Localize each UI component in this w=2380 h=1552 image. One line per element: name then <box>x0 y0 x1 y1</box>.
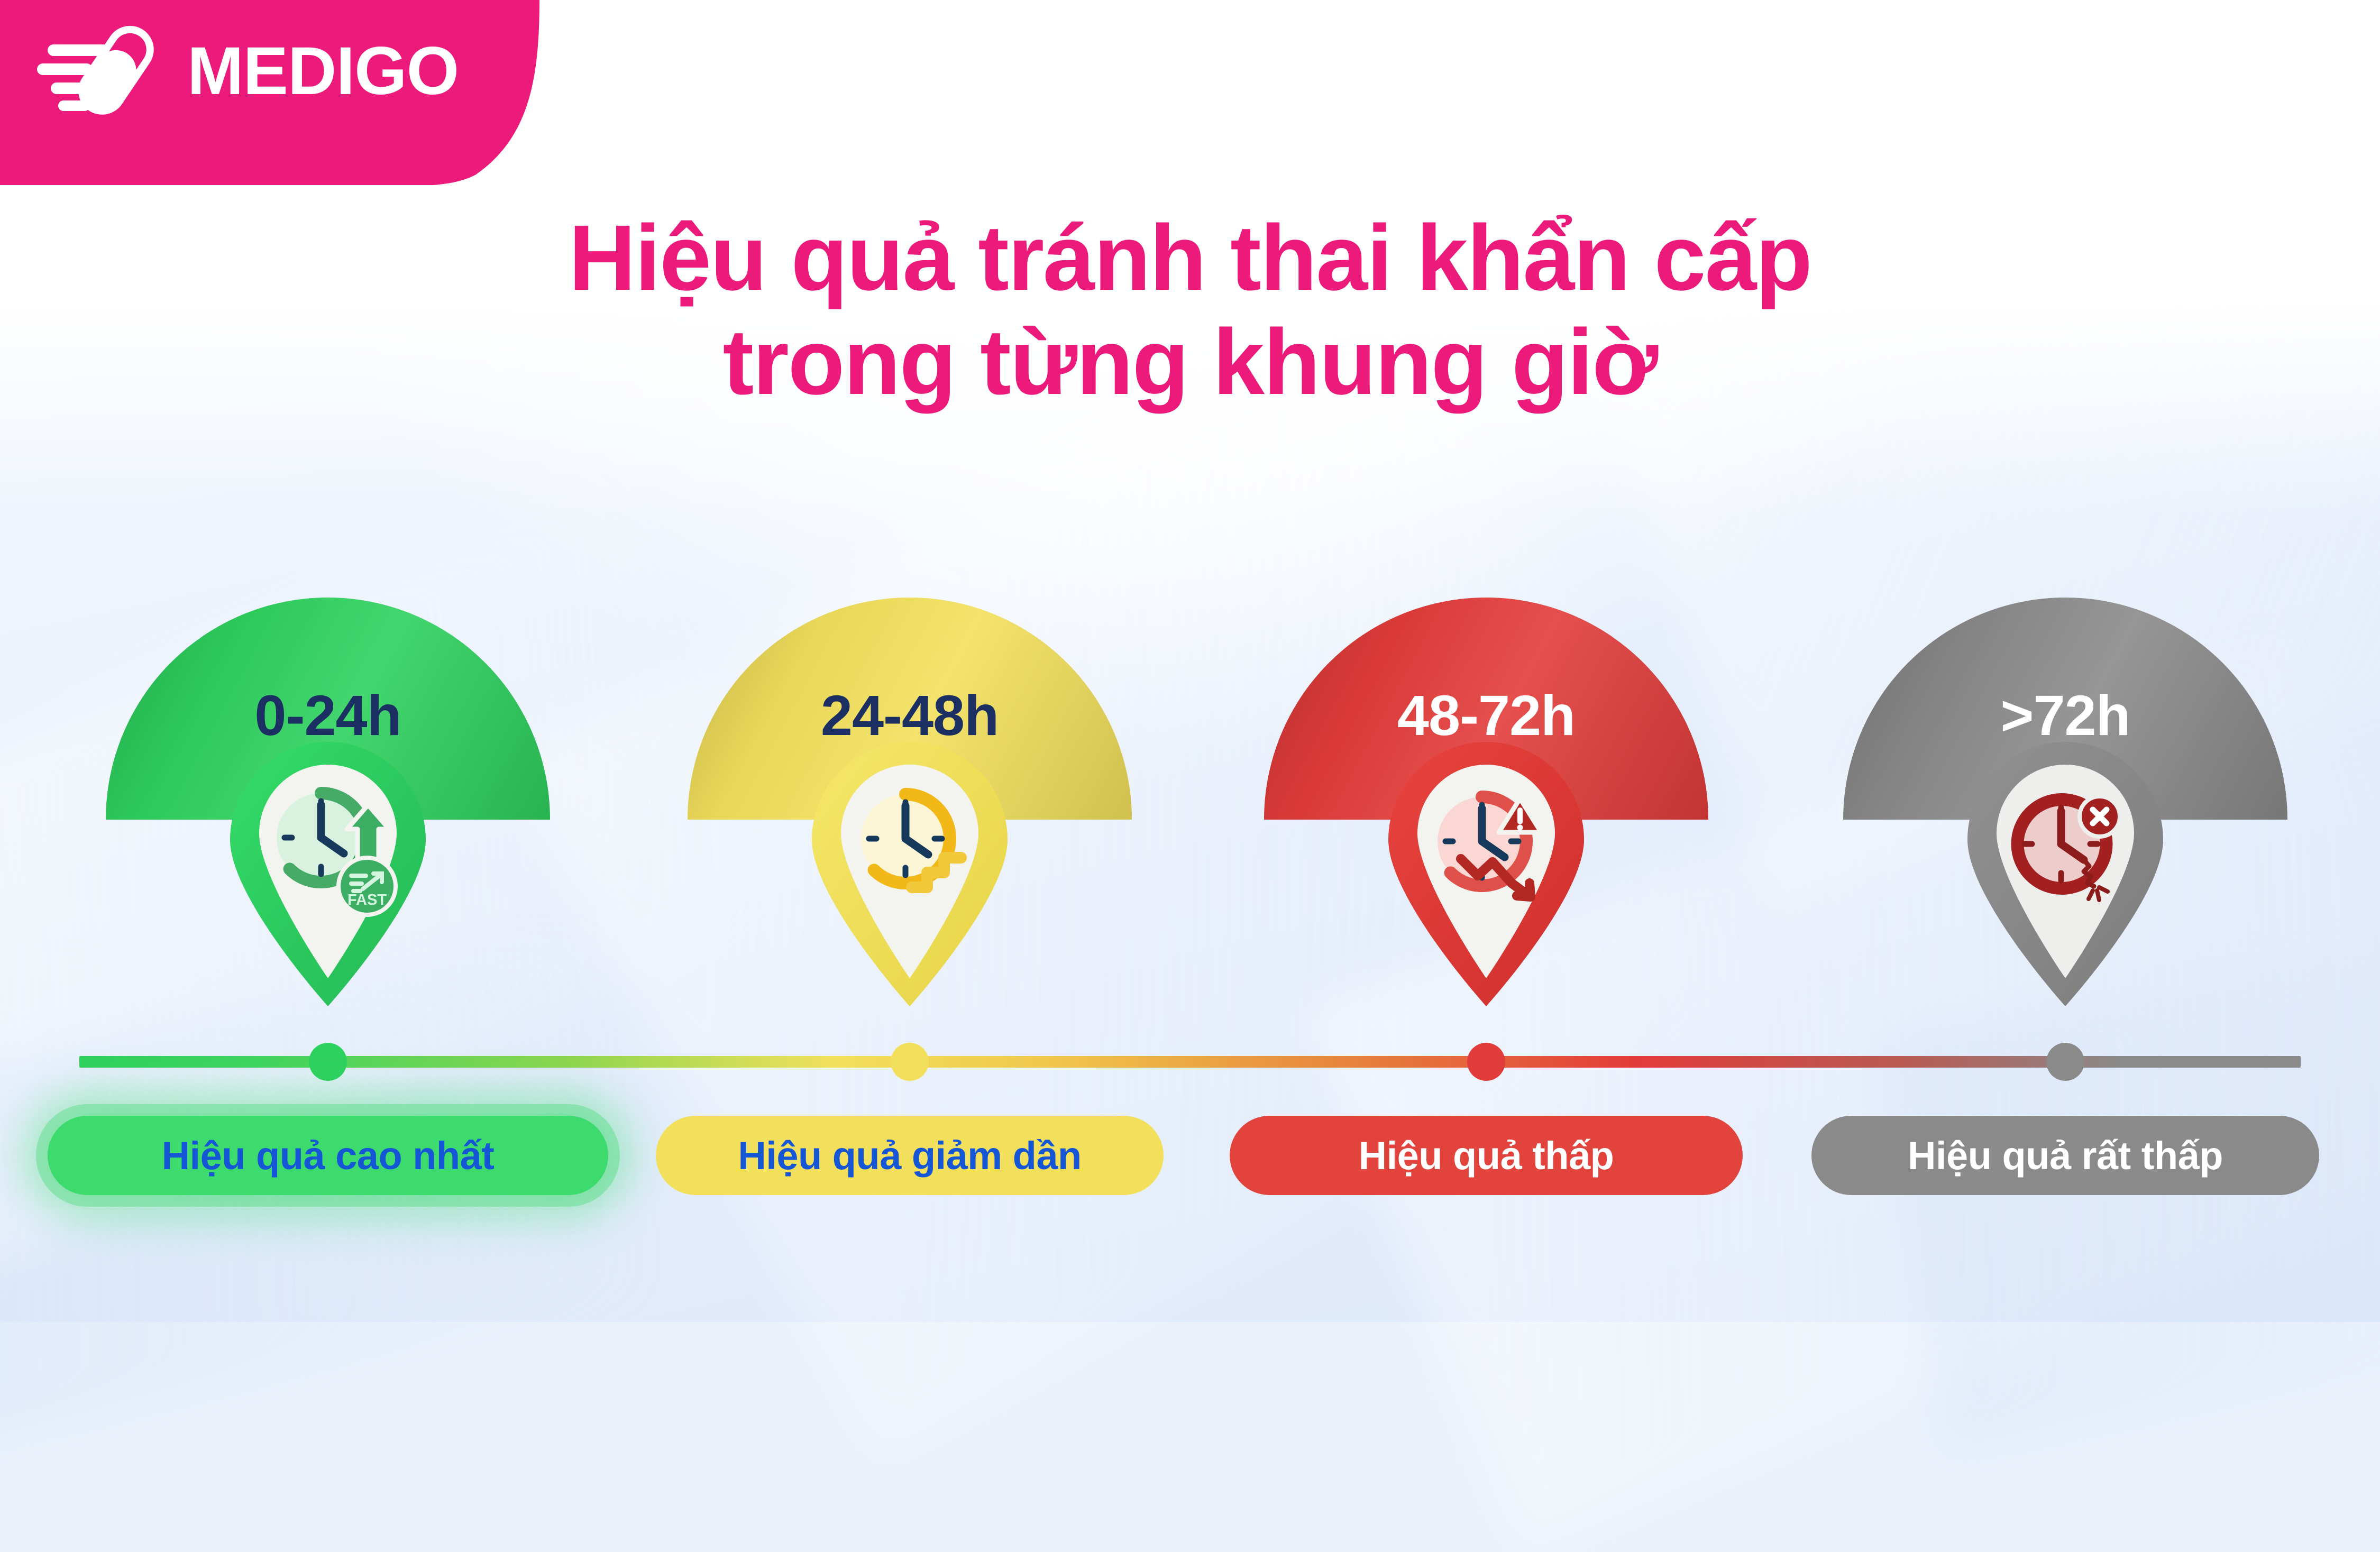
brand-wordmark: MEDIGO <box>187 38 459 105</box>
marker-range-label: >72h <box>2000 682 2130 748</box>
marker-24-48h[interactable]: 24-48h <box>672 598 1148 1021</box>
marker-48-72h[interactable]: 48-72h <box>1248 598 1724 1021</box>
broken-clock-x-icon <box>1987 754 2144 981</box>
marker-range-label: 0-24h <box>254 682 401 748</box>
marker-0-24h[interactable]: FAST 0-24h <box>90 598 566 1021</box>
marker-range-label: 24-48h <box>821 682 999 748</box>
brand-logo[interactable]: MEDIGO <box>37 17 459 125</box>
logo-banner: MEDIGO <box>0 0 582 185</box>
marker-over-72h[interactable]: >72h <box>1827 598 2303 1021</box>
marker-group: FAST 0-24h <box>0 0 2380 1322</box>
svg-text:FAST: FAST <box>347 892 387 908</box>
clock-warning-down-arrow-icon <box>1408 754 1564 981</box>
page-title: Hiệu quả tránh thai khẩn cấp trong từng … <box>0 206 2380 415</box>
clock-descending-steps-icon <box>831 754 988 981</box>
clock-up-arrow-fast-icon: FAST <box>250 754 406 981</box>
pill-speed-icon <box>37 17 169 125</box>
page-title-line-2: trong từng khung giờ <box>0 310 2380 415</box>
marker-range-label: 48-72h <box>1397 682 1575 748</box>
page-title-line-1: Hiệu quả tránh thai khẩn cấp <box>0 206 2380 310</box>
